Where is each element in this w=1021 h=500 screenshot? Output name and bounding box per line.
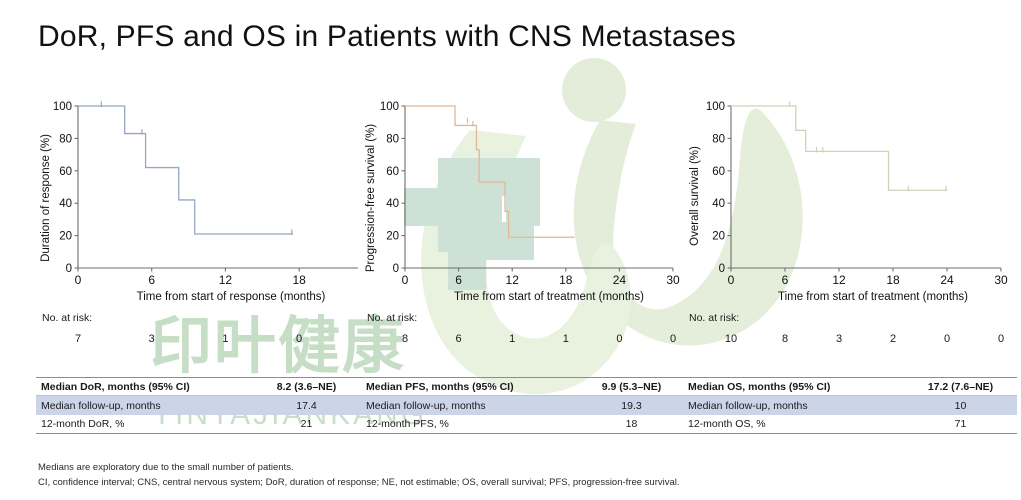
os-km-curve: [731, 106, 947, 190]
risk-values-os: 1083200: [689, 333, 1017, 347]
svg-text:0: 0: [66, 263, 72, 275]
table-row-value: 71: [908, 418, 1013, 430]
svg-text:0: 0: [393, 263, 399, 275]
table-row-value: 19.3: [579, 400, 684, 412]
risk-table-pfs: No. at risk: 861100: [367, 312, 687, 347]
table-row: Median follow-up, months17.4: [36, 396, 363, 415]
pfs-x-axis-label: Time from start of treatment (months): [454, 291, 644, 303]
summary-table-os: Median OS, months (95% CI)17.2 (7.6–NE)M…: [683, 377, 1017, 434]
svg-text:30: 30: [666, 273, 680, 287]
chart-panel-dor: 020406080100 061218 Duration of response…: [36, 88, 366, 306]
risk-value: 1: [563, 333, 569, 345]
dor-axes: [75, 106, 359, 272]
risk-label-os: No. at risk:: [689, 312, 1017, 324]
risk-label-pfs: No. at risk:: [367, 312, 687, 324]
risk-values-dor: 7310: [42, 333, 362, 347]
svg-text:100: 100: [53, 101, 72, 113]
risk-value: 0: [944, 333, 950, 345]
table-row-value: 17.4: [254, 400, 359, 412]
svg-text:12: 12: [832, 273, 846, 287]
svg-text:6: 6: [782, 273, 789, 287]
svg-text:20: 20: [712, 231, 725, 243]
km-chart-os: 020406080100 0612182430 Overall survival…: [683, 88, 1021, 306]
svg-text:0: 0: [75, 273, 82, 287]
os-censor-marks: [790, 102, 947, 192]
svg-text:18: 18: [559, 273, 573, 287]
dor-censor-marks: [101, 102, 291, 235]
risk-value: 3: [836, 333, 842, 345]
svg-text:60: 60: [59, 166, 72, 178]
summary-table-pfs: Median PFS, months (95% CI)9.9 (5.3–NE)M…: [361, 377, 688, 434]
table-row-value: 9.9 (5.3–NE): [579, 381, 684, 393]
risk-values-pfs: 861100: [367, 333, 687, 347]
svg-text:100: 100: [380, 101, 399, 113]
table-row: 12-month DoR, %21: [36, 415, 363, 434]
dor-km-curve: [78, 106, 293, 234]
os-x-axis-label: Time from start of treatment (months): [778, 291, 968, 303]
svg-text:12: 12: [506, 273, 520, 287]
km-chart-pfs: 020406080100 0612182430 Progression-free…: [361, 88, 691, 306]
os-y-tick-labels: 020406080100: [706, 101, 725, 275]
slide-root: 印叶健康 YINTAJIANKANG DoR, PFS and OS in Pa…: [0, 0, 1021, 500]
table-row-label: Median follow-up, months: [41, 400, 254, 412]
pfs-x-tick-labels: 0612182430: [402, 273, 680, 287]
table-row: Median follow-up, months10: [683, 396, 1017, 415]
svg-text:12: 12: [219, 273, 233, 287]
svg-text:0: 0: [402, 273, 409, 287]
pfs-y-axis-label: Progression-free survival (%): [365, 124, 377, 272]
risk-value: 3: [149, 333, 155, 345]
pfs-km-curve: [405, 106, 575, 237]
svg-text:80: 80: [386, 133, 399, 145]
risk-value: 1: [509, 333, 515, 345]
table-row-value: 8.2 (3.6–NE): [254, 381, 359, 393]
table-row-label: Median OS, months (95% CI): [688, 381, 908, 393]
os-y-axis-label: Overall survival (%): [689, 146, 701, 246]
dor-x-axis-label: Time from start of response (months): [137, 291, 326, 303]
dor-x-tick-labels: 061218: [75, 273, 306, 287]
footnote-line-2: CI, confidence interval; CNS, central ne…: [38, 476, 680, 491]
svg-text:80: 80: [59, 133, 72, 145]
table-row: Median PFS, months (95% CI)9.9 (5.3–NE): [361, 377, 688, 396]
risk-value: 0: [670, 333, 676, 345]
risk-value: 0: [296, 333, 302, 345]
plot-pfs: 020406080100 0612182430 Progression-free…: [361, 88, 691, 306]
table-row-label: 12-month PFS, %: [366, 418, 579, 430]
table-row-value: 10: [908, 400, 1013, 412]
footnotes: Medians are exploratory due to the small…: [38, 461, 680, 490]
pfs-axes: [402, 106, 674, 272]
risk-value: 1: [222, 333, 228, 345]
svg-text:18: 18: [292, 273, 306, 287]
table-row: 12-month PFS, %18: [361, 415, 688, 434]
svg-text:60: 60: [712, 166, 725, 178]
chart-panel-os: 020406080100 0612182430 Overall survival…: [683, 88, 1021, 306]
risk-value: 0: [998, 333, 1004, 345]
km-chart-dor: 020406080100 061218 Duration of response…: [36, 88, 366, 306]
table-row-label: Median follow-up, months: [366, 400, 579, 412]
dor-y-tick-labels: 020406080100: [53, 101, 72, 275]
risk-value: 8: [782, 333, 788, 345]
svg-text:6: 6: [148, 273, 155, 287]
table-row-value: 17.2 (7.6–NE): [908, 381, 1013, 393]
svg-text:6: 6: [455, 273, 462, 287]
table-row: Median OS, months (95% CI)17.2 (7.6–NE): [683, 377, 1017, 396]
table-row-label: Median PFS, months (95% CI): [366, 381, 579, 393]
svg-text:30: 30: [994, 273, 1008, 287]
os-x-tick-labels: 0612182430: [728, 273, 1008, 287]
chart-panel-pfs: 020406080100 0612182430 Progression-free…: [361, 88, 691, 306]
risk-value: 7: [75, 333, 81, 345]
table-row: 12-month OS, %71: [683, 415, 1017, 434]
svg-text:24: 24: [940, 273, 954, 287]
table-row-label: Median follow-up, months: [688, 400, 908, 412]
svg-text:24: 24: [613, 273, 627, 287]
summary-table-dor: Median DoR, months (95% CI)8.2 (3.6–NE)M…: [36, 377, 363, 434]
footnote-line-1: Medians are exploratory due to the small…: [38, 461, 680, 476]
plot-os: 020406080100 0612182430 Overall survival…: [683, 88, 1021, 306]
svg-text:20: 20: [386, 231, 399, 243]
os-axes: [728, 106, 1002, 272]
risk-value: 8: [402, 333, 408, 345]
svg-text:40: 40: [59, 198, 72, 210]
svg-text:20: 20: [59, 231, 72, 243]
svg-text:0: 0: [719, 263, 725, 275]
svg-text:80: 80: [712, 133, 725, 145]
risk-value: 10: [725, 333, 737, 345]
table-row-label: 12-month OS, %: [688, 418, 908, 430]
table-row: Median follow-up, months19.3: [361, 396, 688, 415]
risk-table-os: No. at risk: 1083200: [689, 312, 1017, 347]
risk-value: 6: [456, 333, 462, 345]
risk-label-dor: No. at risk:: [42, 312, 362, 324]
svg-text:0: 0: [728, 273, 735, 287]
table-row: Median DoR, months (95% CI)8.2 (3.6–NE): [36, 377, 363, 396]
table-row-label: Median DoR, months (95% CI): [41, 381, 254, 393]
risk-table-dor: No. at risk: 7310: [42, 312, 362, 347]
svg-text:18: 18: [886, 273, 900, 287]
table-row-label: 12-month DoR, %: [41, 418, 254, 430]
svg-text:60: 60: [386, 166, 399, 178]
page-title: DoR, PFS and OS in Patients with CNS Met…: [38, 20, 736, 54]
svg-text:40: 40: [712, 198, 725, 210]
svg-text:40: 40: [386, 198, 399, 210]
risk-value: 0: [616, 333, 622, 345]
table-row-value: 18: [579, 418, 684, 430]
pfs-y-tick-labels: 020406080100: [380, 101, 399, 275]
plot-dor: 020406080100 061218 Duration of response…: [36, 88, 366, 306]
dor-y-axis-label: Duration of response (%): [40, 134, 52, 262]
risk-value: 2: [890, 333, 896, 345]
svg-text:100: 100: [706, 101, 725, 113]
table-row-value: 21: [254, 418, 359, 430]
